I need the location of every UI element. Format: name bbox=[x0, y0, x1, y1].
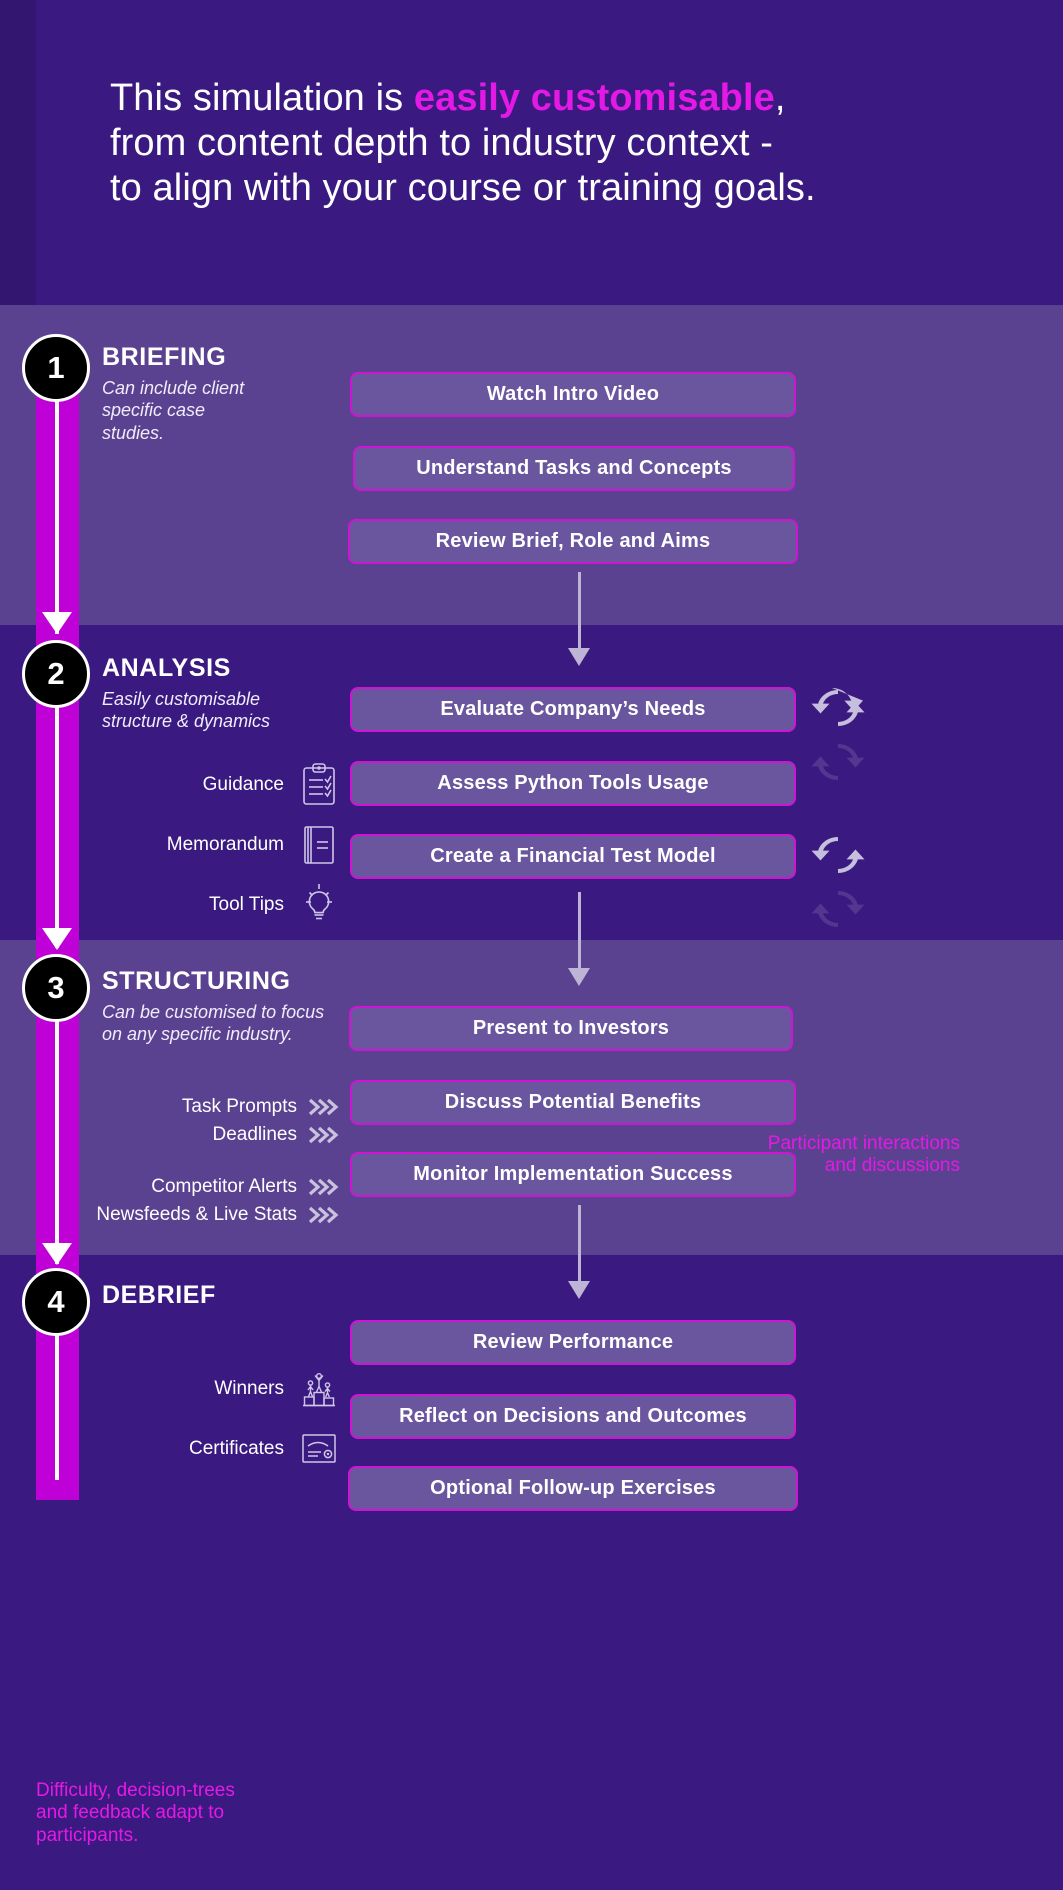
button-create-financial-test-model[interactable]: Create a Financial Test Model bbox=[350, 834, 796, 879]
step-number-1: 1 bbox=[47, 350, 64, 386]
headline-comma: , bbox=[775, 77, 786, 119]
infographic-page: This simulation is easily customisable, … bbox=[0, 0, 1063, 1890]
feature-row-winners: Winners bbox=[60, 1366, 340, 1412]
chevron-row-deadlines: Deadlines bbox=[40, 1123, 340, 1147]
button-evaluate-company-needs[interactable]: Evaluate Company’s Needs bbox=[350, 687, 796, 732]
note-interactions-line-1: Participant interactions bbox=[640, 1133, 960, 1155]
header-left-edge bbox=[0, 0, 36, 305]
spine-arrow-line-1 bbox=[55, 388, 59, 634]
step-title-4: DEBRIEF bbox=[102, 1282, 352, 1310]
connector-arrow-3 bbox=[568, 1281, 590, 1299]
step-title-3: STRUCTURING bbox=[102, 968, 352, 996]
note-participant-interactions: Participant interactions and discussions bbox=[640, 1133, 960, 1178]
step-heading-debrief: DEBRIEF bbox=[102, 1282, 352, 1310]
structuring-chevron-group-1: Task Prompts Deadlines bbox=[40, 1095, 340, 1151]
step-subtitle-3: Can be customised to focus on any specif… bbox=[102, 1001, 334, 1046]
debrief-feature-list: Winners Certificates bbox=[60, 1366, 340, 1486]
step-number-2: 2 bbox=[47, 656, 64, 692]
chevron-row-newsfeeds: Newsfeeds & Live Stats bbox=[40, 1203, 340, 1227]
sync-refresh-reflection-icon bbox=[810, 883, 866, 935]
step-circle-1: 1 bbox=[22, 334, 90, 402]
connector-arrow-1 bbox=[568, 648, 590, 666]
feature-label-winners: Winners bbox=[214, 1378, 284, 1400]
button-watch-intro-video[interactable]: Watch Intro Video bbox=[350, 372, 796, 417]
notebook-icon bbox=[298, 822, 340, 868]
feature-row-guidance: Guidance bbox=[60, 762, 340, 808]
step-subtitle-1: Can include client specific case studies… bbox=[102, 377, 267, 445]
feature-row-memorandum: Memorandum bbox=[60, 822, 340, 868]
header-headline: This simulation is easily customisable, … bbox=[110, 76, 930, 210]
sync-refresh-icon bbox=[810, 682, 866, 734]
note-difficulty-line-1: Difficulty, decision-trees bbox=[36, 1780, 366, 1802]
structuring-chevron-group-2: Competitor Alerts Newsfeeds & Live Stats bbox=[40, 1175, 340, 1231]
step-number-3: 3 bbox=[47, 970, 64, 1006]
feature-label-memorandum: Memorandum bbox=[167, 834, 284, 856]
step-number-4: 4 bbox=[47, 1284, 64, 1320]
triple-chevron-right-icon bbox=[306, 1123, 340, 1147]
spine-arrow-line-2 bbox=[55, 700, 59, 948]
spine-arrow-line-4 bbox=[55, 1330, 59, 1480]
button-reflect-on-decisions[interactable]: Reflect on Decisions and Outcomes bbox=[350, 1394, 796, 1439]
button-discuss-potential-benefits[interactable]: Discuss Potential Benefits bbox=[350, 1080, 796, 1125]
triple-chevron-right-icon bbox=[306, 1175, 340, 1199]
step-title-1: BRIEFING bbox=[102, 344, 352, 372]
button-understand-tasks[interactable]: Understand Tasks and Concepts bbox=[353, 446, 795, 491]
lightbulb-icon bbox=[298, 882, 340, 928]
triple-chevron-right-icon bbox=[306, 1203, 340, 1227]
chevron-label-deadlines: Deadlines bbox=[213, 1124, 298, 1146]
button-review-brief[interactable]: Review Brief, Role and Aims bbox=[348, 519, 798, 564]
button-review-performance[interactable]: Review Performance bbox=[350, 1320, 796, 1365]
feature-row-tool-tips: Tool Tips bbox=[60, 882, 340, 928]
headline-line-2: from content depth to industry context - bbox=[110, 122, 773, 164]
connector-line-3 bbox=[578, 1205, 581, 1285]
certificate-icon bbox=[298, 1426, 340, 1472]
note-difficulty-adapt: Difficulty, decision-trees and feedback … bbox=[36, 1780, 366, 1847]
step-heading-analysis: ANALYSIS Easily customisable structure &… bbox=[102, 655, 352, 733]
triple-chevron-right-icon bbox=[306, 1095, 340, 1119]
step-circle-2: 2 bbox=[22, 640, 90, 708]
chevron-label-task-prompts: Task Prompts bbox=[182, 1096, 297, 1118]
note-difficulty-line-3: participants. bbox=[36, 1825, 366, 1847]
sync-refresh-reflection-icon bbox=[810, 736, 866, 788]
headline-highlight: easily customisable bbox=[414, 77, 775, 119]
button-present-to-investors[interactable]: Present to Investors bbox=[349, 1006, 793, 1051]
step-circle-3: 3 bbox=[22, 954, 90, 1022]
connector-line-1 bbox=[578, 572, 581, 652]
step-circle-4: 4 bbox=[22, 1268, 90, 1336]
sync-refresh-icon bbox=[810, 829, 866, 881]
feature-label-guidance: Guidance bbox=[203, 774, 284, 796]
button-optional-followup-exercises[interactable]: Optional Follow-up Exercises bbox=[348, 1466, 798, 1511]
headline-part-1: This simulation is bbox=[110, 77, 414, 119]
note-difficulty-line-2: and feedback adapt to bbox=[36, 1802, 366, 1824]
note-interactions-line-2: and discussions bbox=[640, 1155, 960, 1177]
spine-arrow-head-1 bbox=[42, 612, 72, 634]
step-title-2: ANALYSIS bbox=[102, 655, 352, 683]
chevron-row-task-prompts: Task Prompts bbox=[40, 1095, 340, 1119]
podium-winners-icon bbox=[298, 1366, 340, 1412]
connector-line-2 bbox=[578, 892, 581, 972]
step-heading-briefing: BRIEFING Can include client specific cas… bbox=[102, 344, 352, 444]
step-heading-structuring: STRUCTURING Can be customised to focus o… bbox=[102, 968, 352, 1046]
button-assess-python-tools[interactable]: Assess Python Tools Usage bbox=[350, 761, 796, 806]
headline-line-3: to align with your course or training go… bbox=[110, 167, 816, 209]
feature-label-certificates: Certificates bbox=[189, 1438, 284, 1460]
step-subtitle-2: Easily customisable structure & dynamics bbox=[102, 688, 287, 733]
chevron-row-competitor-alerts: Competitor Alerts bbox=[40, 1175, 340, 1199]
connector-arrow-2 bbox=[568, 968, 590, 986]
analysis-feature-list: Guidance Memorandum bbox=[60, 762, 340, 942]
feature-row-certificates: Certificates bbox=[60, 1426, 340, 1472]
clipboard-checklist-icon bbox=[298, 762, 340, 808]
spine-arrow-head-3 bbox=[42, 1243, 72, 1265]
chevron-label-newsfeeds: Newsfeeds & Live Stats bbox=[96, 1204, 297, 1226]
feature-label-tool-tips: Tool Tips bbox=[209, 894, 284, 916]
chevron-label-competitor-alerts: Competitor Alerts bbox=[151, 1176, 297, 1198]
